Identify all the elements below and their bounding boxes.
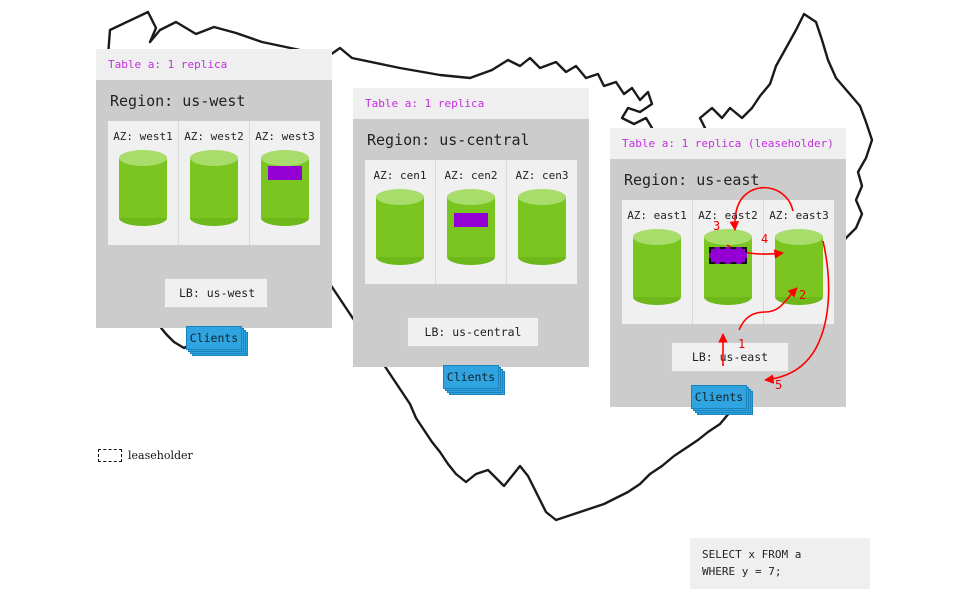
panel-body-us-east: Region: us-east AZ: east1 AZ: east2 (610, 159, 846, 407)
diagram-canvas: Table a: 1 replica Region: us-west AZ: w… (0, 0, 960, 540)
leaseholder-swatch-icon (98, 449, 122, 462)
cylinder-top (261, 150, 309, 166)
az-label-east3: AZ: east3 (764, 209, 834, 222)
cylinder-top (119, 150, 167, 166)
cylinder-top (633, 229, 681, 245)
clients-stack-us-east[interactable]: Clients (691, 385, 757, 417)
step-number-1: 1 (738, 337, 745, 351)
region-title-us-west: Region: us-west (108, 80, 320, 121)
panel-body-us-west: Region: us-west AZ: west1 AZ: west2 (96, 80, 332, 328)
clients-label-us-east: Clients (691, 385, 747, 409)
step-number-4: 4 (761, 232, 768, 246)
az-label-east1: AZ: east1 (622, 209, 692, 222)
region-panel-us-east: Table a: 1 replica (leaseholder) Region:… (610, 128, 846, 407)
node-cylinder-east2[interactable] (704, 229, 752, 305)
clients-stack-us-west[interactable]: Clients (186, 326, 252, 358)
cylinder-body (447, 197, 495, 257)
cylinder-top (190, 150, 238, 166)
az-cell-cen1[interactable]: AZ: cen1 (365, 160, 435, 284)
node-cylinder-cen1[interactable] (376, 189, 424, 265)
node-cylinder-west2[interactable] (190, 150, 238, 226)
node-cylinder-west1[interactable] (119, 150, 167, 226)
replica-block-east2-leaseholder[interactable] (709, 247, 747, 264)
cylinder-body (633, 237, 681, 297)
az-cell-east3[interactable]: AZ: east3 (763, 200, 834, 324)
cylinder-top (447, 189, 495, 205)
az-label-cen3: AZ: cen3 (507, 169, 577, 182)
node-cylinder-cen3[interactable] (518, 189, 566, 265)
step-number-2: 2 (799, 288, 806, 302)
az-group-us-central: AZ: cen1 AZ: cen2 (365, 160, 577, 284)
az-cell-west3[interactable]: AZ: west3 (249, 121, 320, 245)
clients-label-us-central: Clients (443, 365, 499, 389)
cylinder-body (376, 197, 424, 257)
region-panel-us-west: Table a: 1 replica Region: us-west AZ: w… (96, 49, 332, 328)
cylinder-body (190, 158, 238, 218)
az-cell-west2[interactable]: AZ: west2 (178, 121, 249, 245)
panel-body-us-central: Region: us-central AZ: cen1 AZ: cen2 (353, 119, 589, 367)
load-balancer-us-west[interactable]: LB: us-west (164, 278, 268, 308)
sql-query-box: SELECT x FROM a WHERE y = 7; (690, 538, 870, 589)
panel-header-us-central: Table a: 1 replica (353, 88, 589, 119)
az-label-east2: AZ: east2 (693, 209, 763, 222)
az-label-west3: AZ: west3 (250, 130, 320, 143)
az-cell-east2[interactable]: AZ: east2 (692, 200, 763, 324)
legend-leaseholder: leaseholder (98, 449, 193, 462)
load-balancer-us-central[interactable]: LB: us-central (407, 317, 539, 347)
replica-block-west3[interactable] (268, 166, 302, 180)
node-cylinder-west3[interactable] (261, 150, 309, 226)
az-label-cen1: AZ: cen1 (365, 169, 435, 182)
az-group-us-east: AZ: east1 AZ: east2 (622, 200, 834, 324)
step-number-3: 3 (713, 219, 720, 233)
az-cell-cen2[interactable]: AZ: cen2 (435, 160, 506, 284)
legend-label: leaseholder (128, 449, 193, 462)
region-panel-us-central: Table a: 1 replica Region: us-central AZ… (353, 88, 589, 367)
cylinder-body (119, 158, 167, 218)
region-title-us-central: Region: us-central (365, 119, 577, 160)
replica-block-cen2[interactable] (454, 213, 488, 227)
az-label-cen2: AZ: cen2 (436, 169, 506, 182)
clients-label-us-west: Clients (186, 326, 242, 350)
cylinder-top (775, 229, 823, 245)
clients-stack-us-central[interactable]: Clients (443, 365, 509, 397)
az-group-us-west: AZ: west1 AZ: west2 AZ (108, 121, 320, 245)
az-cell-east1[interactable]: AZ: east1 (622, 200, 692, 324)
az-cell-cen3[interactable]: AZ: cen3 (506, 160, 577, 284)
az-label-west1: AZ: west1 (108, 130, 178, 143)
cylinder-top (704, 229, 752, 245)
cylinder-top (518, 189, 566, 205)
cylinder-body (704, 237, 752, 297)
region-title-us-east: Region: us-east (622, 159, 834, 200)
node-cylinder-east1[interactable] (633, 229, 681, 305)
az-cell-west1[interactable]: AZ: west1 (108, 121, 178, 245)
cylinder-top (376, 189, 424, 205)
panel-header-us-east: Table a: 1 replica (leaseholder) (610, 128, 846, 159)
cylinder-body (518, 197, 566, 257)
load-balancer-us-east[interactable]: LB: us-east (671, 342, 789, 372)
step-number-5: 5 (775, 378, 782, 392)
node-cylinder-cen2[interactable] (447, 189, 495, 265)
az-label-west2: AZ: west2 (179, 130, 249, 143)
panel-header-us-west: Table a: 1 replica (96, 49, 332, 80)
